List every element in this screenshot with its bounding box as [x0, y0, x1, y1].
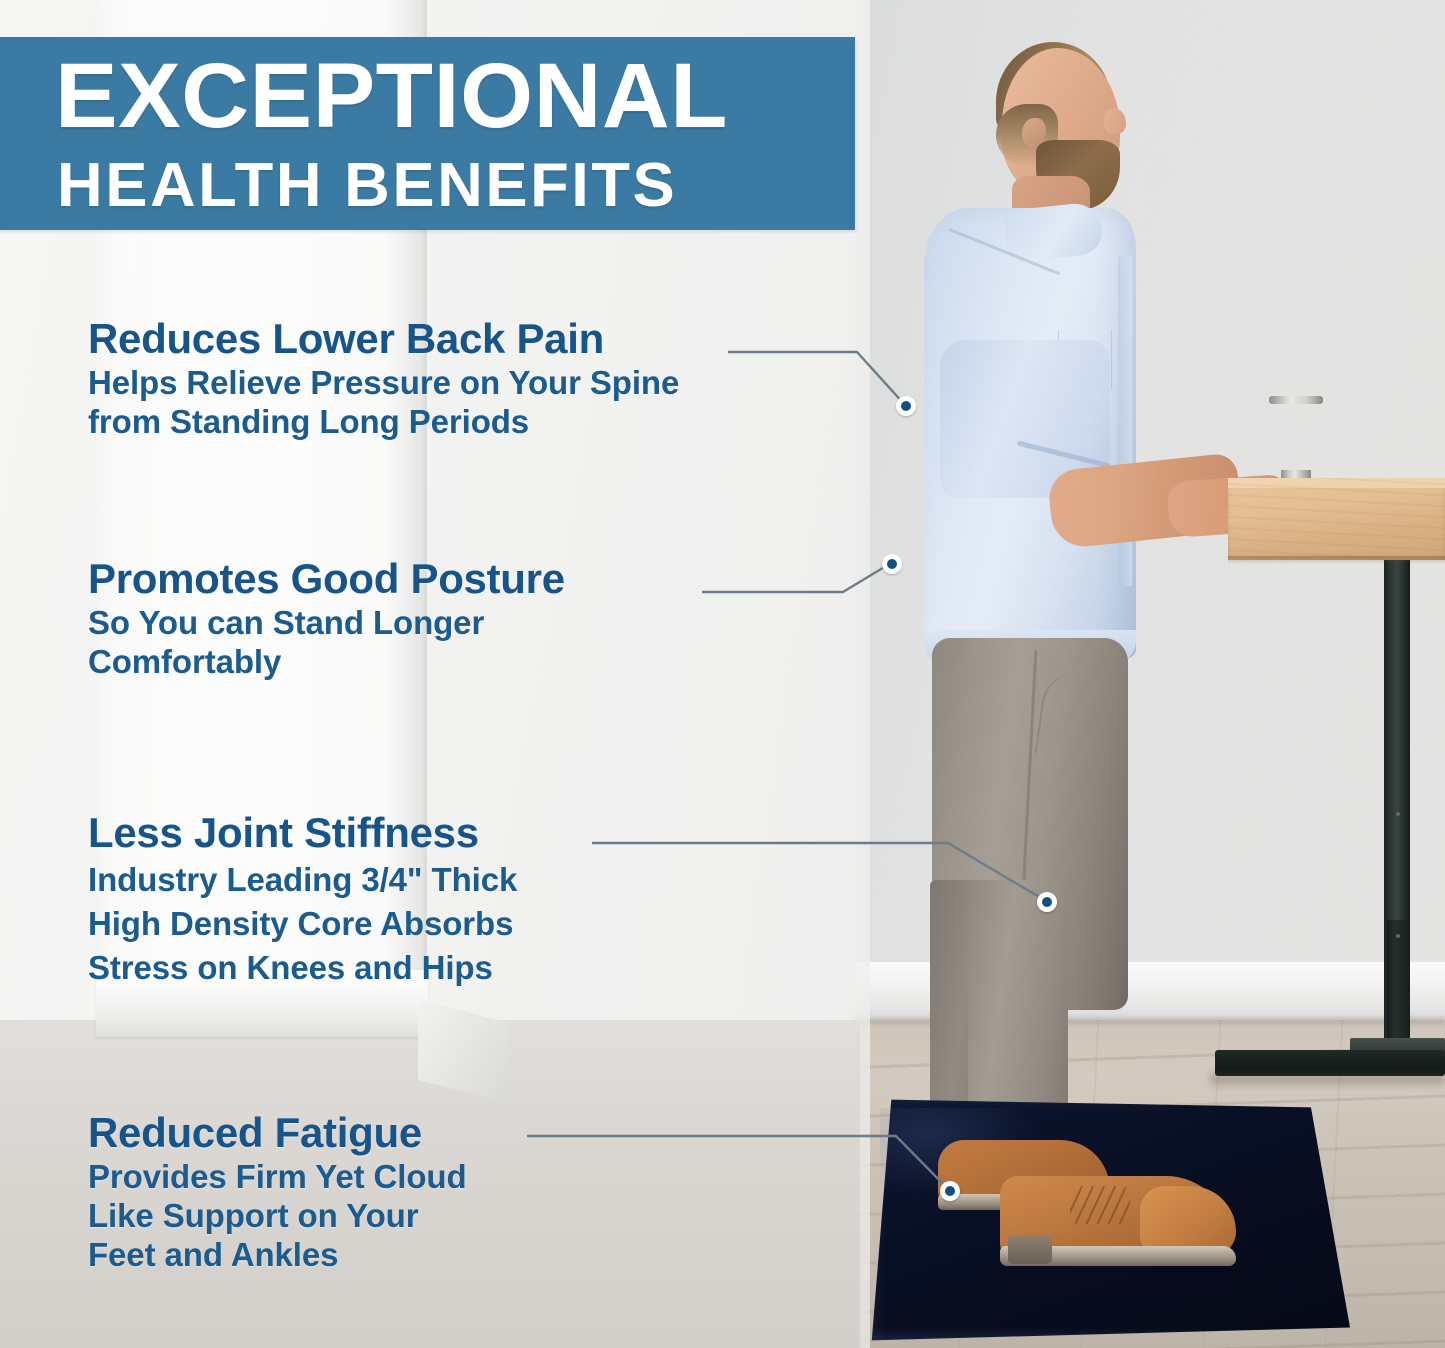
benefit-block-reduced-fatigue: Reduced Fatigue Provides Firm Yet Cloud …: [88, 1112, 467, 1275]
benefit-block-reduces-lower-back-pain: Reduces Lower Back Pain Helps Relieve Pr…: [88, 318, 679, 442]
benefit-line: Industry Leading 3/4" Thick: [88, 858, 517, 902]
benefit-description: Helps Relieve Pressure on Your Spine fro…: [88, 364, 679, 442]
benefit-description: So You can Stand Longer Comfortably: [88, 604, 565, 682]
benefit-line: Provides Firm Yet Cloud: [88, 1158, 467, 1197]
benefit-block-less-joint-stiffness: Less Joint Stiffness Industry Leading 3/…: [88, 812, 517, 991]
banner-title-line-1: EXCEPTIONAL: [55, 53, 728, 140]
banner-title-line-2: HEALTH BENEFITS: [57, 157, 677, 216]
benefit-line: Helps Relieve Pressure on Your Spine: [88, 364, 679, 403]
benefit-description: Provides Firm Yet Cloud Like Support on …: [88, 1158, 467, 1275]
desk-wood-grain: [1228, 478, 1445, 560]
benefit-description: Industry Leading 3/4" Thick High Density…: [88, 858, 517, 991]
benefit-block-promotes-good-posture: Promotes Good Posture So You can Stand L…: [88, 558, 565, 682]
benefit-title: Promotes Good Posture: [88, 558, 565, 600]
desk-edge-shadow: [1228, 556, 1445, 564]
benefit-line: High Density Core Absorbs: [88, 902, 517, 946]
benefit-title: Reduced Fatigue: [88, 1112, 467, 1154]
shoe-heel: [1008, 1236, 1052, 1264]
benefit-line: from Standing Long Periods: [88, 403, 679, 442]
callout-dot-lower-back: [896, 396, 916, 416]
nose: [1104, 108, 1126, 134]
header-banner: EXCEPTIONAL HEALTH BENEFITS: [0, 37, 855, 230]
benefit-line: Feet and Ankles: [88, 1236, 467, 1275]
benefit-line: Comfortably: [88, 643, 565, 682]
shoe-laces: [1070, 1186, 1130, 1224]
callout-dot-posture: [882, 554, 902, 574]
benefit-line: Stress on Knees and Hips: [88, 946, 517, 990]
benefit-title: Reduces Lower Back Pain: [88, 318, 679, 360]
benefit-title: Less Joint Stiffness: [88, 812, 517, 854]
benefit-line: So You can Stand Longer: [88, 604, 565, 643]
benefit-line: Like Support on Your: [88, 1197, 467, 1236]
callout-dot-knee: [1037, 892, 1057, 912]
callout-dot-mat: [940, 1181, 960, 1201]
product-infographic: EXCEPTIONAL HEALTH BENEFITS Reduces Lowe…: [0, 0, 1445, 1348]
tumbler-rim: [1269, 396, 1323, 404]
